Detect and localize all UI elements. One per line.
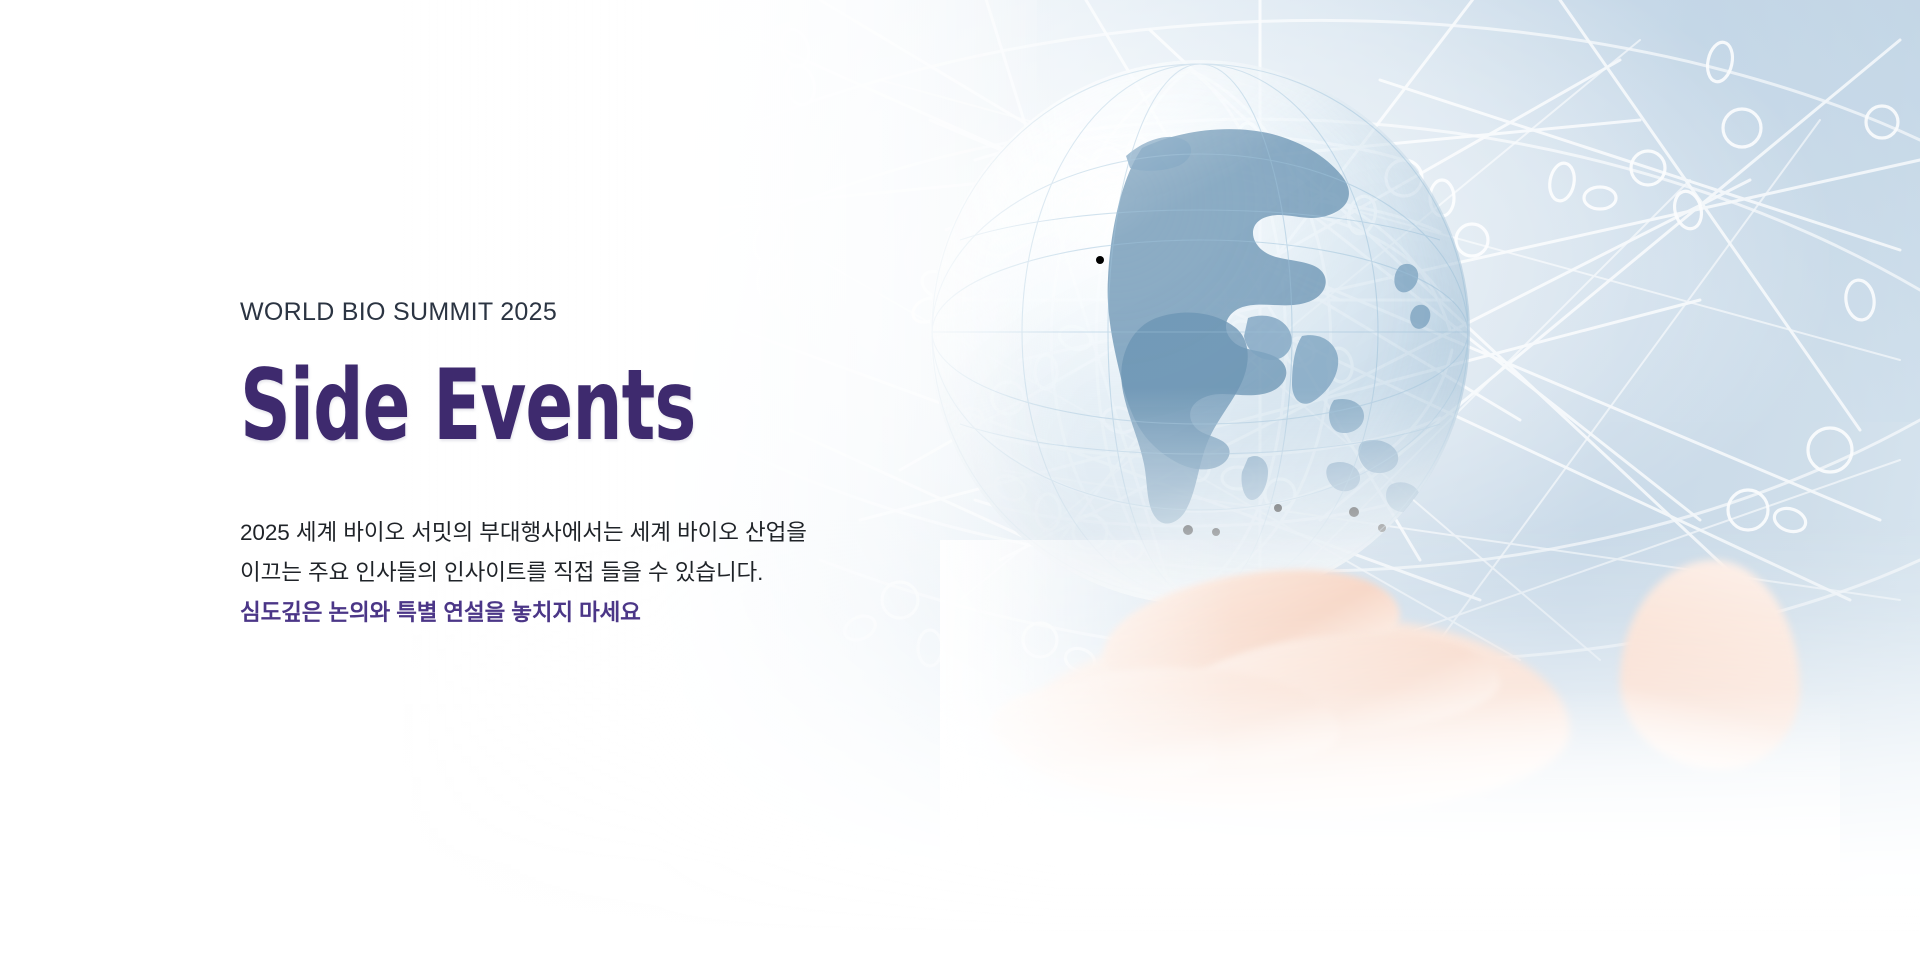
hero-banner: WORLD BIO SUMMIT 2025 Side Events 2025 세… — [0, 0, 1920, 960]
hero-eyebrow: WORLD BIO SUMMIT 2025 — [240, 300, 1000, 325]
hero-body-line-2: 이끄는 주요 인사들의 인사이트를 직접 들을 수 있습니다. — [240, 553, 1000, 593]
hero-accent-line: 심도깊은 논의와 특별 연설을 놓치지 마세요 — [240, 593, 1000, 633]
hero-copy: WORLD BIO SUMMIT 2025 Side Events 2025 세… — [240, 300, 1000, 633]
hero-body-line-1: 2025 세계 바이오 서밋의 부대행사에서는 세계 바이오 산업을 — [240, 513, 1000, 553]
page-title: Side Events — [240, 361, 848, 451]
